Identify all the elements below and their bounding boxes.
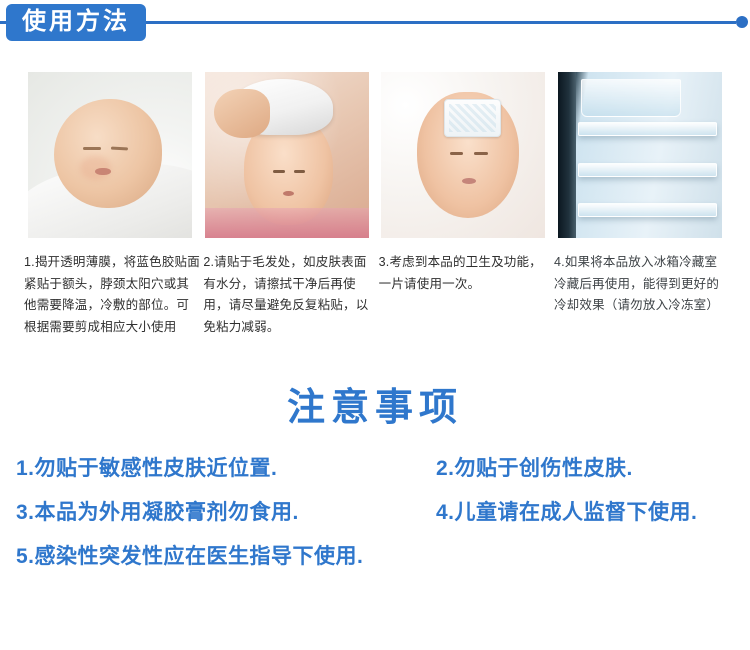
precaution-item-3: 3.本品为外用凝胶膏剂勿食用. [16, 496, 436, 526]
caption-step-4: 4.如果将本品放入冰箱冷藏室冷藏后再使用，能得到更好的冷却效果（请勿放入冷冻室） [554, 252, 726, 338]
eye-right-shape [474, 152, 487, 155]
hand-shape [214, 89, 270, 139]
child-with-cooling-patch-photo [381, 72, 545, 238]
caption-step-1: 1.揭开透明薄膜，将蓝色胶贴面紧贴于额头，脖颈太阳穴或其他需要降温，冷敷的部位。… [24, 252, 200, 338]
fridge-shelf-shape [578, 163, 718, 177]
eye-left-shape [450, 152, 463, 155]
eye-right-shape [294, 170, 306, 173]
precaution-row: 5.感染性突发性应在医生指导下使用. [16, 540, 734, 570]
cooling-patch-shape [444, 99, 502, 138]
precaution-item-2: 2.勿贴于创伤性皮肤. [436, 452, 633, 482]
photo-row [0, 72, 750, 238]
page-header: 使用方法 [0, 0, 750, 46]
header-end-dot-icon [736, 16, 748, 28]
sleeping-baby-photo [28, 72, 192, 238]
fridge-shelf-shape [578, 203, 718, 217]
girl-with-towel-on-forehead-photo [205, 72, 369, 238]
fridge-shelf-shape [578, 122, 718, 136]
precaution-item-4: 4.儿童请在成人监督下使用. [436, 496, 697, 526]
mouth-shape [462, 178, 476, 184]
precaution-item-5: 5.感染性突发性应在医生指导下使用. [16, 540, 436, 570]
fridge-door-edge-shape [558, 72, 576, 238]
eye-left-shape [83, 147, 100, 150]
mouth-shape [283, 191, 295, 196]
pink-clothing-shape [205, 208, 369, 238]
fridge-bin-shape [581, 79, 681, 118]
precautions-list: 1.勿贴于敏感性皮肤近位置. 2.勿贴于创伤性皮肤. 3.本品为外用凝胶膏剂勿食… [0, 452, 750, 584]
caption-row: 1.揭开透明薄膜，将蓝色胶贴面紧贴于额头，脖颈太阳穴或其他需要降温，冷敷的部位。… [0, 252, 750, 338]
mouth-shape [95, 168, 110, 176]
section-badge-usage: 使用方法 [6, 4, 146, 41]
caption-step-3: 3.考虑到本品的卫生及功能，一片请使用一次。 [379, 252, 551, 338]
precautions-title: 注意事项 [0, 376, 750, 431]
eye-right-shape [110, 146, 127, 150]
eye-left-shape [273, 170, 285, 173]
precaution-row: 1.勿贴于敏感性皮肤近位置. 2.勿贴于创伤性皮肤. [16, 452, 734, 482]
precaution-item-1: 1.勿贴于敏感性皮肤近位置. [16, 452, 436, 482]
baby-head-shape [54, 99, 162, 209]
refrigerator-interior-photo [558, 72, 722, 238]
precaution-row: 3.本品为外用凝胶膏剂勿食用. 4.儿童请在成人监督下使用. [16, 496, 734, 526]
caption-step-2: 2.请贴于毛发处，如皮肤表面有水分，请擦拭干净后再使用，请尽量避免反复粘贴，以免… [203, 252, 375, 338]
